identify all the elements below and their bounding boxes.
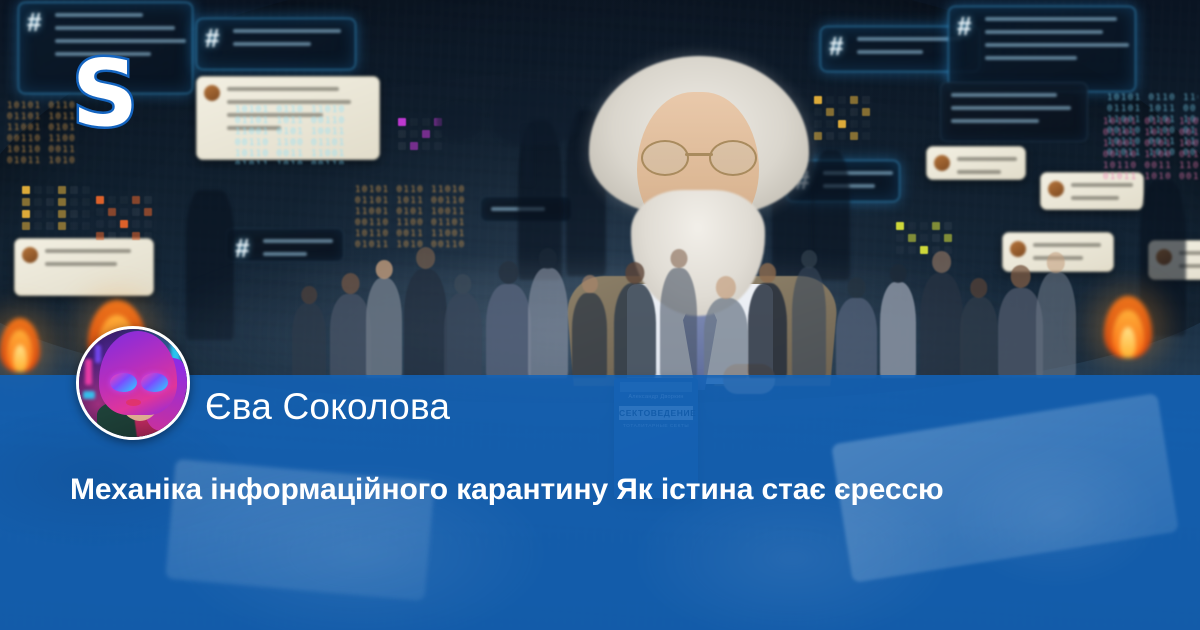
speaker-figure	[575, 52, 825, 382]
crowd-person-silhouette	[836, 277, 877, 378]
panel-text-line	[957, 170, 1001, 174]
panel-avatar-icon	[22, 247, 38, 263]
panel-text-line	[263, 239, 333, 243]
crowd-person-silhouette	[330, 273, 371, 378]
eyeglasses-icon	[637, 140, 761, 172]
letter-s-logo-icon: S	[72, 48, 138, 140]
panel-text-line	[857, 37, 961, 41]
panel-avatar-icon	[1010, 241, 1026, 257]
crowd-person-silhouette	[704, 276, 748, 378]
panel-text-line	[55, 13, 143, 17]
background-panel: #	[948, 6, 1136, 92]
tree-silhouette	[436, 104, 482, 140]
crowd-person-silhouette	[366, 260, 402, 378]
crowd-person-silhouette	[748, 263, 787, 378]
led-grid	[96, 196, 152, 240]
avatar[interactable]	[76, 326, 190, 440]
brand-logo[interactable]: S	[72, 48, 138, 140]
panel-text-line	[233, 42, 311, 46]
panel-text-line	[985, 56, 1077, 60]
crowd-person-silhouette	[880, 264, 916, 378]
social-card: ######10101 0110 11010 01101 1011 00110 …	[0, 0, 1200, 630]
panel-text-line	[951, 93, 1057, 97]
crowd-person-silhouette	[292, 286, 326, 378]
background-glyph-block: 10101 0110 11010 01101 1011 00110 11001 …	[228, 100, 382, 164]
hashtag-icon: #	[235, 235, 249, 261]
fire-icon	[1104, 296, 1152, 358]
fire-icon	[0, 318, 40, 372]
panel-text-line	[985, 30, 1103, 34]
panel-text-line	[957, 157, 1017, 161]
panel-text-line	[951, 106, 1071, 110]
tree-silhouette	[524, 128, 532, 184]
avatar-lips	[126, 399, 141, 406]
avatar-sunglasses-icon	[110, 373, 168, 392]
crowd-person-silhouette	[614, 262, 656, 378]
panel-text-line	[233, 29, 341, 33]
panel-text-line	[985, 43, 1129, 47]
crowd-person-silhouette	[528, 248, 568, 378]
panel-text-line	[263, 252, 307, 256]
crowd-person-silhouette	[660, 249, 697, 378]
crowd-person-silhouette	[444, 274, 482, 378]
crowd-person-silhouette	[572, 275, 607, 378]
led-grid	[22, 186, 90, 230]
crowd-person-silhouette	[960, 278, 998, 378]
tree-silhouette	[492, 86, 578, 146]
panel-text-line	[1033, 243, 1101, 247]
panel-text-line	[857, 50, 923, 54]
crowd-person-silhouette	[486, 261, 531, 378]
hashtag-icon: #	[27, 9, 41, 35]
panel-text-line	[951, 119, 1039, 123]
background-panel	[940, 82, 1088, 142]
hashtag-icon: #	[829, 33, 843, 59]
crowd-person-silhouette	[792, 250, 826, 378]
led-grid	[896, 222, 952, 254]
panel-text-line	[55, 26, 175, 30]
panel-text-line	[985, 17, 1117, 21]
hashtag-icon: #	[957, 13, 971, 39]
panel-avatar-icon	[204, 85, 220, 101]
article-title[interactable]: Механіка інформаційного карантину Як іст…	[70, 472, 1140, 509]
author-name[interactable]: Єва Соколова	[205, 386, 450, 428]
hashtag-icon: #	[205, 25, 219, 51]
background-panel	[926, 146, 1026, 180]
background-panel: #	[196, 18, 356, 70]
background-panel: #	[226, 228, 344, 262]
crowd-person-silhouette	[404, 247, 447, 378]
panel-avatar-icon	[934, 155, 950, 171]
panel-text-line	[45, 249, 131, 253]
crowd-person-silhouette	[920, 251, 963, 378]
crowd-person-silhouette	[1036, 252, 1076, 378]
panel-avatar-icon	[1048, 181, 1064, 197]
panel-text-line	[227, 87, 339, 91]
